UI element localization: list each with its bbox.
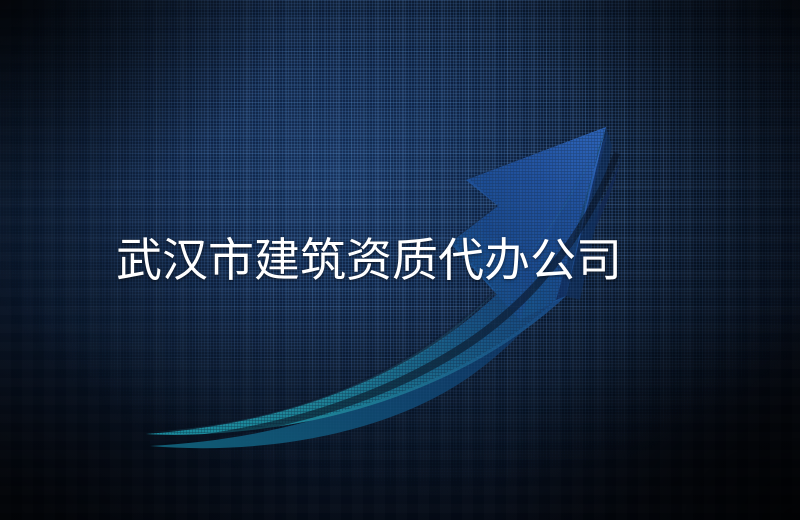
headline-container: 武汉市建筑资质代办公司 <box>0 0 800 520</box>
page-title: 武汉市建筑资质代办公司 <box>116 237 622 283</box>
banner-canvas: 武汉市建筑资质代办公司 <box>0 0 800 520</box>
